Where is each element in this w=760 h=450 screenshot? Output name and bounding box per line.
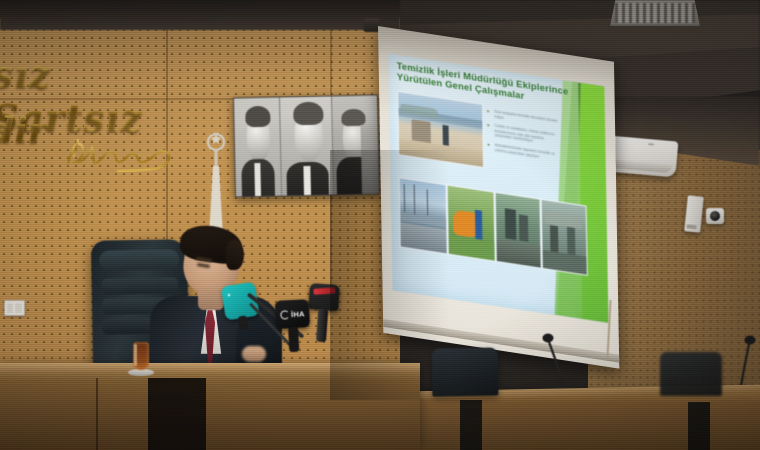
ataturk-signature xyxy=(62,130,192,176)
desk-front-panel-seam xyxy=(96,378,98,450)
speaker-hand xyxy=(242,346,266,362)
slide-photo-marina xyxy=(399,177,448,254)
slide-photo-street xyxy=(495,192,542,269)
desk-chair-right-2[interactable] xyxy=(660,352,722,396)
slide-photo-worker-equipment xyxy=(447,184,496,261)
seated-official xyxy=(150,218,280,378)
conference-photo-scene: sız Şartsız dir xyxy=(0,0,760,450)
desk-front-leg-recess xyxy=(148,378,206,450)
wall-top-dark-band xyxy=(0,0,400,30)
iha-logo-icon xyxy=(280,310,289,319)
teal-mic-handle xyxy=(238,315,249,330)
teal-mic-flag-text: ● xyxy=(227,292,232,299)
projection-screen: Temizlik İşleri Müdürlüğü Ekiplerince Yü… xyxy=(378,26,619,373)
desk-right-leg-1 xyxy=(460,400,482,450)
desk-front-edge-highlight xyxy=(0,363,420,373)
wooden-conference-desk-front xyxy=(0,368,420,450)
portrait-frame-2 xyxy=(279,96,334,195)
desk-chair-right-1[interactable] xyxy=(432,347,499,396)
slide-photo-market xyxy=(541,199,588,276)
portrait-frame-1 xyxy=(234,98,281,197)
ataturk-portrait-triptych xyxy=(233,94,380,197)
wall-gold-text-line1: sız Şartsız xyxy=(0,52,192,96)
turkish-tea-glass[interactable] xyxy=(128,338,154,376)
iha-mic-flag: İHA xyxy=(275,299,310,329)
signature-icon xyxy=(62,130,192,176)
slide-bullets: ▸ Özel araçlarla temizlik hizmetleri dev… xyxy=(487,109,562,168)
portrait-frame-3 xyxy=(331,96,379,195)
bullet-marker-icon: ▸ xyxy=(487,123,491,137)
iha-mic-flag-text: İHA xyxy=(291,309,305,319)
bullet-marker-icon: ▸ xyxy=(488,142,492,152)
red-top-mic xyxy=(306,283,340,343)
wall-switch-socket-plate[interactable] xyxy=(4,300,25,316)
ceiling-security-camera xyxy=(706,208,724,224)
slide-photo-shoreline xyxy=(397,91,484,168)
bullet-marker-icon: ▸ xyxy=(487,109,491,119)
slide-accent-green-pale xyxy=(550,78,582,319)
tea-saucer xyxy=(128,369,154,376)
hvac-ceiling-diffuser xyxy=(610,0,700,26)
red-mic-handle xyxy=(316,309,328,343)
desk-right-leg-2 xyxy=(688,402,710,450)
iha-mic-handle xyxy=(288,327,299,352)
iha-news-mic: İHA xyxy=(275,299,312,353)
slide-projection: Temizlik İşleri Müdürlüğü Ekiplerince Yü… xyxy=(388,54,608,323)
tea-glass-highlight xyxy=(134,344,137,366)
speaker-hair-side xyxy=(226,240,244,270)
